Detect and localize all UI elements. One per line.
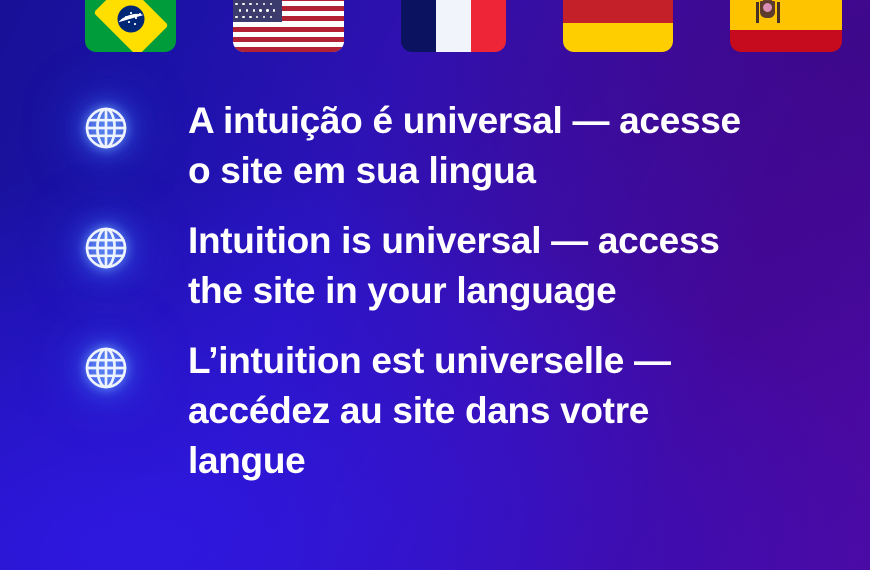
headline-cell: L’intuition est universelle — accédez au… (188, 336, 870, 486)
brazil-star (128, 21, 130, 23)
language-list: A intuição é universal — acesse o site e… (0, 96, 870, 486)
headline-cell: Intuition is universal — access the site… (188, 216, 870, 316)
germany-gold-band (563, 23, 673, 52)
united-states-flag (233, 0, 344, 52)
france-flag (401, 0, 506, 52)
spain-coat-of-arms (756, 0, 780, 25)
list-item: Intuition is universal — access the site… (0, 216, 870, 316)
brazil-star (130, 12, 132, 14)
headline-cell: A intuição é universal — acesse o site e… (188, 96, 870, 196)
globe-icon (82, 104, 130, 152)
germany-flag (563, 0, 673, 52)
headline-text-pt: A intuição é universal — acesse o site e… (188, 96, 756, 196)
brazil-star (125, 16, 127, 18)
spain-bottom-red-band (730, 30, 842, 52)
globe-icon-cell (0, 216, 188, 272)
france-white-band (436, 0, 471, 52)
germany-red-band (563, 0, 673, 23)
brazil-star (135, 17, 137, 19)
spain-flag (730, 0, 842, 52)
brazil-star (139, 13, 141, 15)
list-item: L’intuition est universelle — accédez au… (0, 336, 870, 486)
spain-yellow-band (730, 0, 842, 30)
france-red-band (471, 0, 506, 52)
list-item: A intuição é universal — acesse o site e… (0, 96, 870, 196)
brazil-star (134, 23, 136, 25)
us-canton (233, 0, 282, 22)
globe-icon-cell (0, 96, 188, 152)
flag-row (0, 0, 870, 56)
headline-text-en: Intuition is universal — access the site… (188, 216, 756, 316)
brazil-flag (85, 0, 176, 52)
france-blue-band (401, 0, 436, 52)
headline-text-fr: L’intuition est universelle — accédez au… (188, 336, 756, 486)
globe-icon (82, 344, 130, 392)
globe-icon-cell (0, 336, 188, 392)
banner-stage: A intuição é universal — acesse o site e… (0, 0, 870, 570)
globe-icon (82, 224, 130, 272)
